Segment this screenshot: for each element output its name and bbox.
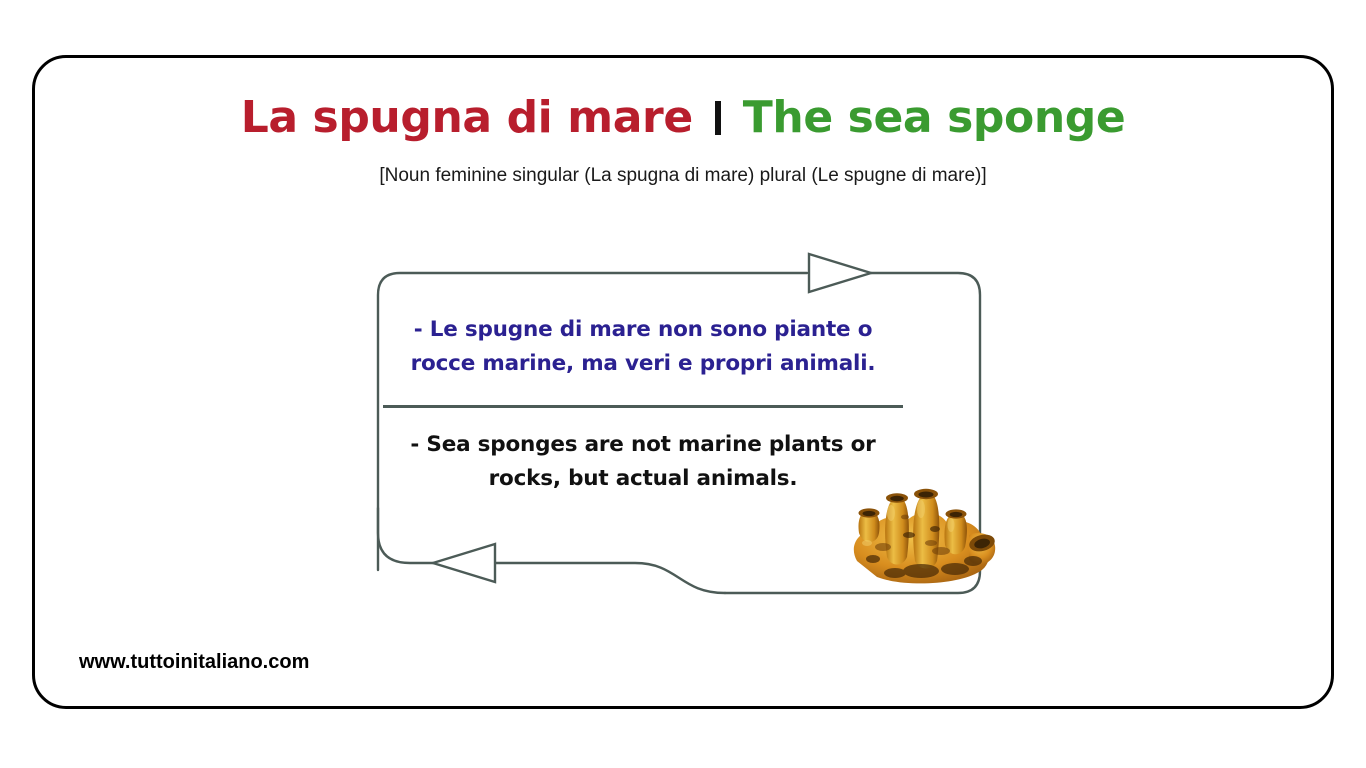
callout-path-bottom-step — [495, 563, 725, 593]
sea-sponge-icon — [843, 473, 1001, 589]
lesson-card: La spugna di mare The sea sponge [Noun f… — [32, 55, 1334, 709]
header: La spugna di mare The sea sponge [Noun f… — [35, 96, 1331, 187]
grammar-note: [Noun feminine singular (La spugna di ma… — [35, 165, 1331, 187]
website-url[interactable]: www.tuttoinitaliano.com — [79, 651, 309, 674]
callout-text-group: - Le spugne di mare non sono piante o ro… — [383, 313, 903, 496]
title-row: La spugna di mare The sea sponge — [35, 96, 1331, 140]
sea-sponge-illustration — [843, 473, 1001, 589]
phrase-english: - Sea sponges are not marine plants or r… — [383, 428, 903, 496]
phrase-divider — [383, 405, 903, 408]
page-title-english: The sea sponge — [743, 96, 1126, 140]
phrase-italian: - Le spugne di mare non sono piante o ro… — [383, 313, 903, 381]
arrow-left-icon — [433, 544, 495, 582]
callout-path-bottom-left — [378, 508, 435, 563]
arrow-right-icon — [809, 254, 871, 292]
title-separator-bar — [715, 101, 721, 135]
page-title-italian: La spugna di mare — [241, 96, 693, 140]
